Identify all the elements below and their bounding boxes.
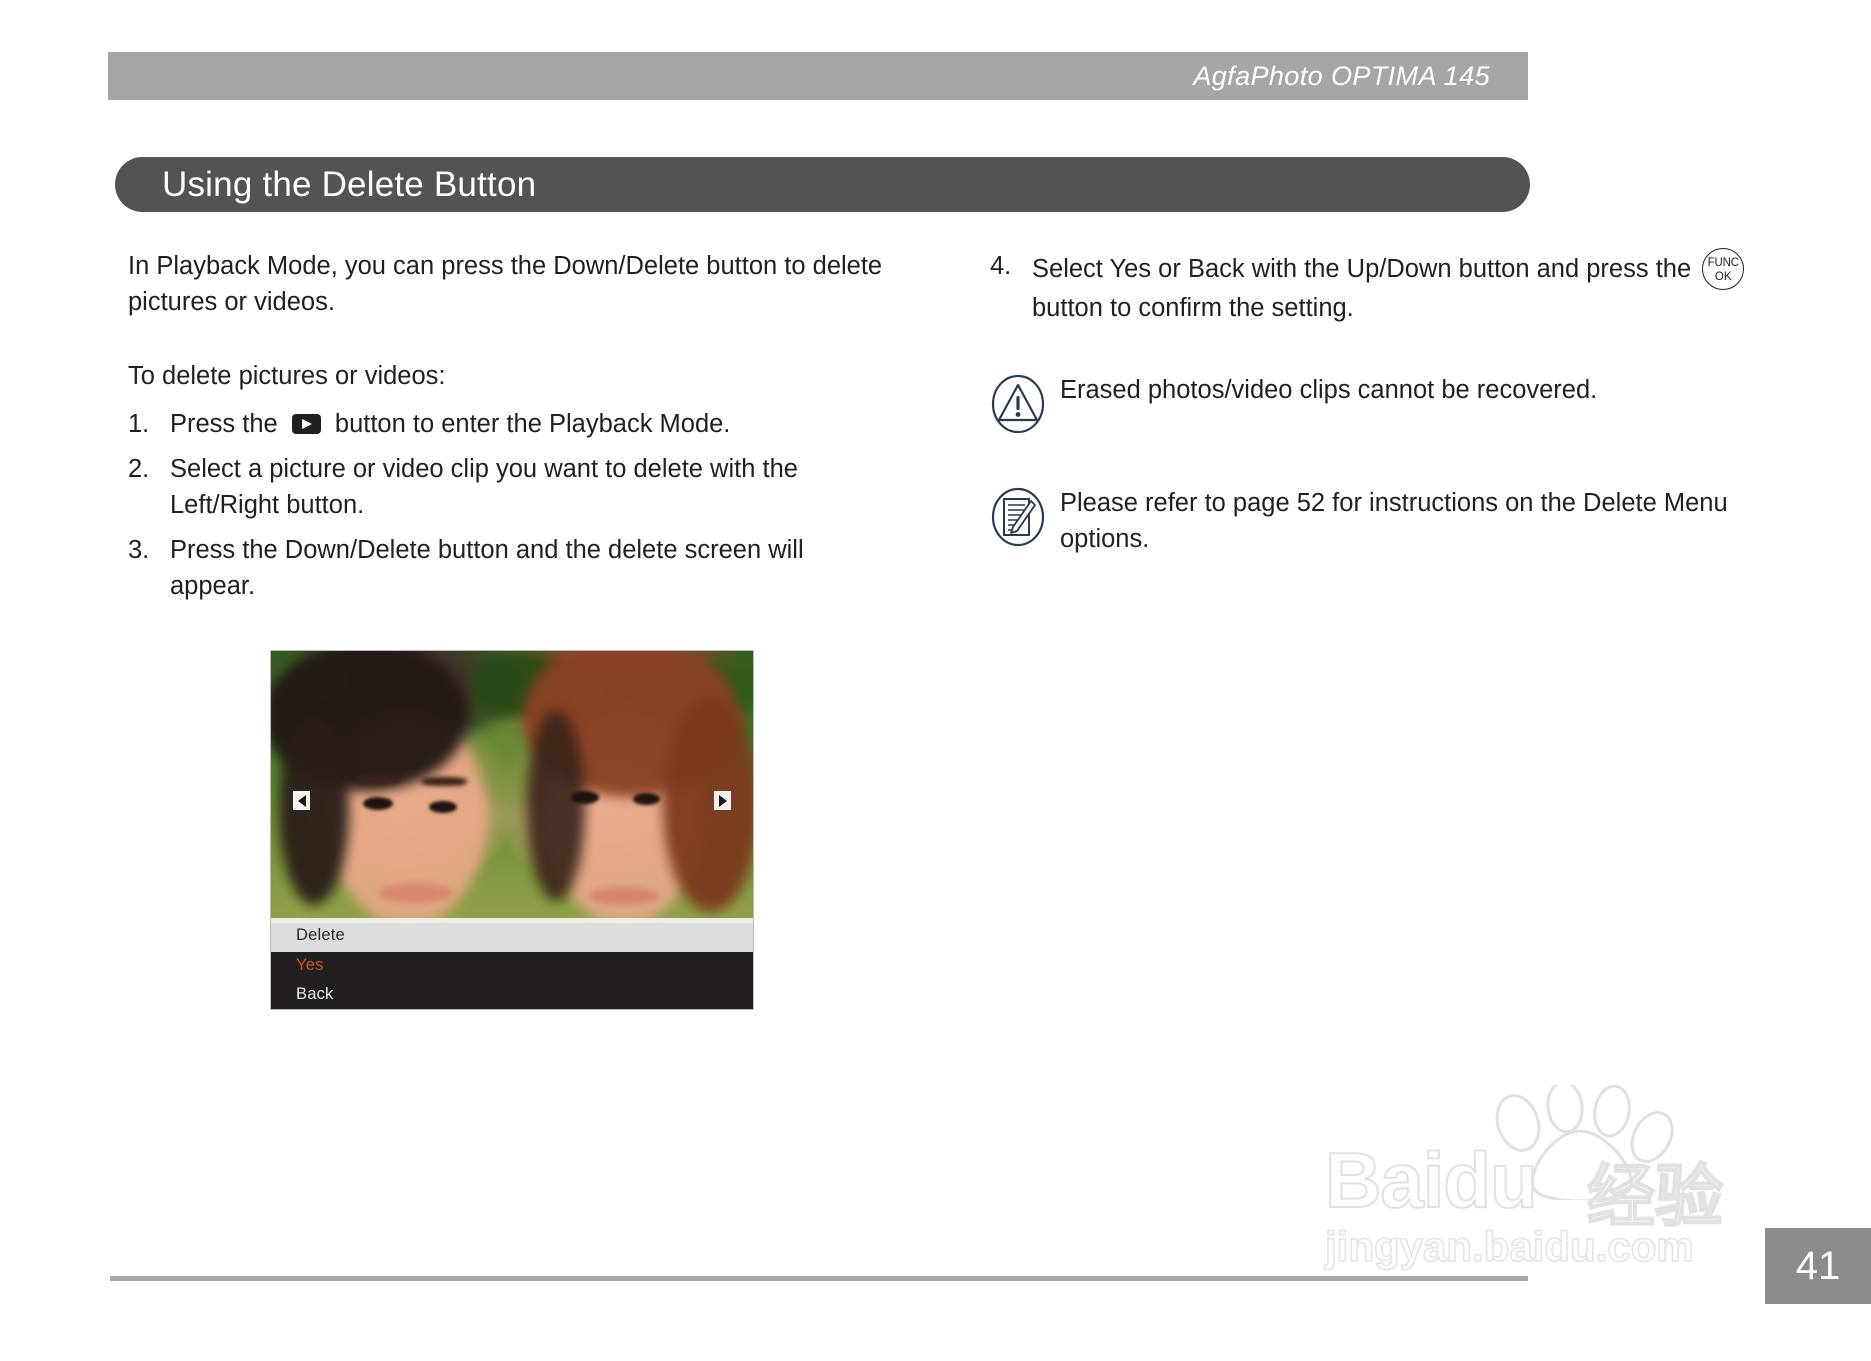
delete-menu-header: Delete [271, 918, 754, 952]
step-text-after-icon: button to confirm the setting. [1032, 294, 1354, 322]
step-text-before-icon: Press the [170, 410, 285, 438]
func-ok-icon-line1: FUNC [1703, 258, 1743, 270]
eye [429, 801, 457, 813]
step-text-after-icon: button to enter the Playback Mode. [328, 410, 731, 438]
list-item: 2. Select a picture or video clip you wa… [128, 451, 888, 523]
list-item: 4. Select Yes or Back with the Up/Down b… [990, 248, 1790, 326]
sample-photo [271, 651, 754, 923]
eye [571, 791, 599, 804]
step-number: 3. [128, 532, 170, 604]
hair-left [279, 715, 349, 905]
section-title: Using the Delete Button [115, 165, 536, 205]
page-header-bar: AgfaPhoto OPTIMA 145 [108, 52, 1528, 100]
step-text: Select Yes or Back with the Up/Down butt… [1032, 248, 1790, 326]
left-column: In Playback Mode, you can press the Down… [128, 248, 888, 613]
func-ok-icon-line2: OK [1703, 272, 1743, 284]
step-number: 4. [990, 248, 1032, 326]
eyebrow [421, 777, 467, 786]
prev-image-arrow[interactable] [293, 791, 310, 810]
hair-right [527, 711, 585, 901]
warning-note: Erased photos/video clips cannot be reco… [990, 372, 1790, 439]
watermark-brand: Baidu [1325, 1135, 1537, 1226]
step-number: 1. [128, 406, 170, 442]
left-triangle-icon [298, 795, 306, 807]
right-triangle-icon [719, 795, 727, 807]
mouth [589, 887, 659, 905]
delete-option-yes[interactable]: Yes [296, 956, 324, 975]
hair-right [663, 697, 754, 912]
step-text: Press the Down/Delete button and the del… [170, 532, 888, 604]
step-text: Press the button to enter the Playback M… [170, 406, 888, 442]
warning-triangle-icon [990, 372, 1052, 439]
footer-divider [110, 1276, 1528, 1281]
document-page: AgfaPhoto OPTIMA 145 Using the Delete Bu… [0, 0, 1871, 1361]
watermark-url: jingyan.baidu.com [1325, 1223, 1694, 1271]
playback-icon [292, 414, 321, 434]
step-text: Select a picture or video clip you want … [170, 451, 888, 523]
intro-paragraph: In Playback Mode, you can press the Down… [128, 248, 888, 320]
page-number-box: 41 [1765, 1228, 1871, 1304]
func-ok-icon: FUNCOK [1702, 248, 1744, 290]
delete-menu-options: Yes Back [271, 952, 754, 1010]
camera-screen-mockup: Delete Yes Back [270, 650, 754, 1010]
baidu-watermark: Baidu 经验 jingyan.baidu.com [1325, 1095, 1795, 1285]
list-item: 3. Press the Down/Delete button and the … [128, 532, 888, 604]
delete-option-back[interactable]: Back [296, 985, 333, 1004]
list-item: 1. Press the button to enter the Playbac… [128, 406, 888, 442]
page-number: 41 [1796, 1244, 1841, 1289]
steps-list: 1. Press the button to enter the Playbac… [128, 406, 888, 604]
info-note-text: Please refer to page 52 for instructions… [1052, 485, 1790, 557]
delete-menu-title: Delete [271, 926, 345, 945]
next-image-arrow[interactable] [714, 791, 731, 810]
right-column: 4. Select Yes or Back with the Up/Down b… [990, 248, 1790, 557]
paw-print-icon [1480, 1085, 1680, 1200]
mouth [379, 883, 453, 903]
step-text-before-icon: Select Yes or Back with the Up/Down butt… [1032, 255, 1698, 283]
product-title: AgfaPhoto OPTIMA 145 [1193, 61, 1528, 92]
note-document-icon [990, 485, 1052, 552]
eye [633, 793, 660, 805]
step-number: 2. [128, 451, 170, 523]
warning-note-text: Erased photos/video clips cannot be reco… [1052, 372, 1597, 408]
eye [363, 797, 393, 810]
eyebrow [355, 775, 401, 784]
watermark-brand-cn: 经验 [1587, 1141, 1723, 1240]
lead-in-paragraph: To delete pictures or videos: [128, 358, 888, 394]
section-title-banner: Using the Delete Button [115, 157, 1530, 212]
info-note: Please refer to page 52 for instructions… [990, 485, 1790, 557]
